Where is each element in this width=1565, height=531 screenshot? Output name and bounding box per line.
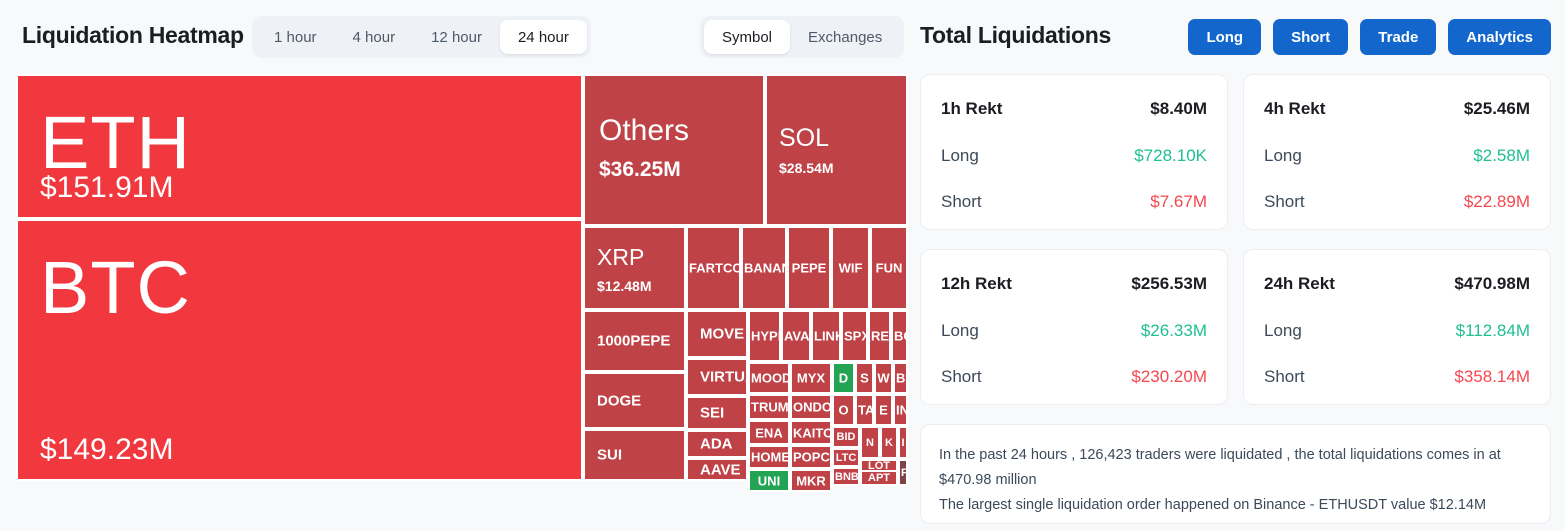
page-header: Liquidation Heatmap 1 hour 4 hour 12 hou… — [0, 0, 1565, 70]
treemap-cell-1000pepe[interactable]: 1000PEPE — [583, 310, 686, 372]
stat-long-label: Long — [941, 146, 979, 166]
treemap-cell-bch[interactable]: BCH — [891, 310, 908, 362]
treemap-cell-bananas31[interactable]: BANANAS31 — [741, 226, 787, 310]
treemap-cell-aave[interactable]: AAVE — [686, 458, 748, 481]
treemap-symbol: WIF — [833, 261, 868, 276]
liquidation-stats-grid: 1h Rekt $8.40M Long $728.10K Short $7.67… — [920, 74, 1551, 415]
treemap-cell-sei[interactable]: SEI — [686, 396, 748, 430]
stat-total-row: 12h Rekt $256.53M — [941, 274, 1207, 294]
treemap-cell-fartcoin[interactable]: FARTCOIN — [686, 226, 741, 310]
stat-long-value: $112.84M — [1456, 321, 1530, 341]
treemap-cell-link[interactable]: LINK — [811, 310, 841, 362]
treemap-cell-spx[interactable]: SPX — [841, 310, 868, 362]
treemap-cell-p[interactable]: P — [898, 459, 908, 486]
treemap-value: $151.91M — [40, 171, 173, 205]
treemap-cell-doge[interactable]: DOGE — [583, 372, 686, 429]
treemap-symbol: P — [900, 467, 906, 479]
stat-short-value: $22.89M — [1464, 192, 1530, 212]
summary-card: In the past 24 hours , 126,423 traders w… — [920, 424, 1551, 524]
stat-short-value: $230.20M — [1131, 367, 1207, 387]
stat-long-row: Long $112.84M — [1264, 321, 1530, 341]
stat-card-4h: 4h Rekt $25.46M Long $2.58M Short $22.89… — [1243, 74, 1551, 230]
treemap-symbol: BID — [834, 431, 858, 443]
treemap-cell-kaito[interactable]: KAITO — [790, 420, 832, 445]
timeframe-4-hour[interactable]: 4 hour — [335, 20, 414, 54]
treemap-cell-sui[interactable]: SUI — [583, 429, 686, 481]
treemap-value: $12.48M — [597, 278, 651, 294]
treemap-cell-others[interactable]: Others $36.25M — [583, 74, 765, 226]
treemap-cell-e[interactable]: E — [874, 394, 893, 426]
stat-long-label: Long — [1264, 321, 1302, 341]
treemap-symbol: W — [876, 371, 891, 386]
treemap-symbol: UNI — [750, 473, 788, 488]
stat-short-value: $358.14M — [1454, 367, 1530, 387]
treemap-cell-d[interactable]: D — [832, 362, 855, 394]
stat-title: 4h Rekt — [1264, 99, 1325, 119]
page-title: Liquidation Heatmap — [22, 22, 244, 49]
stat-short-label: Short — [941, 367, 982, 387]
stat-total: $25.46M — [1464, 99, 1530, 119]
treemap-cell-w[interactable]: W — [874, 362, 893, 394]
treemap-symbol: IN — [895, 403, 906, 418]
summary-line-2: The largest single liquidation order hap… — [939, 493, 1532, 518]
treemap-symbol: B — [895, 371, 906, 386]
treemap-symbol: N — [862, 437, 878, 449]
stat-total-row: 24h Rekt $470.98M — [1264, 274, 1530, 294]
treemap-symbol: FARTCOIN — [688, 261, 739, 276]
stat-short-row: Short $22.89M — [1264, 192, 1530, 212]
stat-long-label: Long — [1264, 146, 1302, 166]
treemap-symbol: HYPE — [750, 329, 779, 344]
liquidation-treemap: ETH $151.91M BTC $149.23M Others $36.25M… — [16, 74, 908, 481]
short-button[interactable]: Short — [1273, 19, 1348, 55]
treemap-symbol: SOL — [779, 124, 829, 153]
treemap-value: $149.23M — [40, 433, 173, 467]
treemap-symbol: VIRTUAL — [698, 369, 748, 386]
treemap-symbol: SUI — [595, 447, 624, 464]
treemap-cell-xrp[interactable]: XRP $12.48M — [583, 226, 686, 310]
treemap-symbol: S — [857, 371, 872, 386]
stat-total: $256.53M — [1131, 274, 1207, 294]
stat-short-label: Short — [1264, 192, 1305, 212]
action-button-group: Long Short Trade Analytics — [1188, 19, 1551, 55]
stat-card-1h: 1h Rekt $8.40M Long $728.10K Short $7.67… — [920, 74, 1228, 230]
stat-title: 24h Rekt — [1264, 274, 1335, 294]
treemap-cell-uni[interactable]: UNI — [748, 469, 790, 492]
treemap-cell-avax[interactable]: AVAX — [781, 310, 811, 362]
treemap-cell-in[interactable]: IN — [893, 394, 908, 426]
stat-total: $470.98M — [1454, 274, 1530, 294]
treemap-symbol: RENDER — [870, 329, 889, 344]
treemap-cell-myx[interactable]: MYX — [790, 362, 832, 394]
treemap-cell-virtual[interactable]: VIRTUAL — [686, 358, 748, 396]
treemap-symbol: PEPE — [789, 261, 829, 276]
treemap-cell-bid[interactable]: BID — [832, 426, 860, 448]
treemap-cell-fun[interactable]: FUN — [870, 226, 908, 310]
treemap-cell-b[interactable]: B — [893, 362, 908, 394]
treemap-cell-hype[interactable]: HYPE — [748, 310, 781, 362]
stat-short-label: Short — [941, 192, 982, 212]
treemap-symbol: MOODENG — [750, 371, 788, 386]
treemap-value: $28.54M — [779, 160, 833, 176]
treemap-symbol: BTC — [40, 245, 191, 330]
stat-long-value: $728.10K — [1134, 146, 1207, 166]
treemap-symbol: TRUMP — [750, 400, 788, 415]
treemap-cell-moodeng[interactable]: MOODENG — [748, 362, 790, 394]
timeframe-1-hour[interactable]: 1 hour — [256, 20, 335, 54]
stat-title: 12h Rekt — [941, 274, 1012, 294]
treemap-symbol: ONDO — [792, 400, 830, 415]
treemap-cell-ada[interactable]: ADA — [686, 430, 748, 458]
stat-short-label: Short — [1264, 367, 1305, 387]
treemap-cell-render[interactable]: RENDER — [868, 310, 891, 362]
stat-title: 1h Rekt — [941, 99, 1002, 119]
stat-total-row: 1h Rekt $8.40M — [941, 99, 1207, 119]
stat-long-row: Long $26.33M — [941, 321, 1207, 341]
treemap-symbol: ENA — [750, 425, 788, 440]
treemap-symbol: DOGE — [595, 392, 643, 409]
view-mode-segmented-control[interactable]: Symbol Exchanges — [700, 16, 904, 58]
treemap-symbol: AAVE — [698, 461, 743, 478]
treemap-value: $36.25M — [599, 158, 681, 182]
treemap-symbol: APT — [862, 472, 896, 484]
treemap-symbol: I — [900, 437, 906, 449]
stat-short-row: Short $358.14M — [1264, 367, 1530, 387]
mode-symbol[interactable]: Symbol — [704, 20, 790, 54]
treemap-cell-wif[interactable]: WIF — [831, 226, 870, 310]
treemap-symbol: BNB — [834, 471, 858, 483]
treemap-cell-popcat[interactable]: POPCAT — [790, 445, 832, 469]
treemap-cell-eth[interactable]: ETH $151.91M — [16, 74, 583, 219]
trade-button[interactable]: Trade — [1360, 19, 1436, 55]
treemap-symbol: HOME — [750, 450, 788, 465]
treemap-cell-s[interactable]: S — [855, 362, 874, 394]
analytics-button[interactable]: Analytics — [1448, 19, 1551, 55]
stat-long-label: Long — [941, 321, 979, 341]
stat-total: $8.40M — [1150, 99, 1207, 119]
treemap-cell-move[interactable]: MOVE — [686, 310, 748, 358]
stat-card-12h: 12h Rekt $256.53M Long $26.33M Short $23… — [920, 249, 1228, 405]
treemap-symbol: O — [834, 403, 853, 418]
stat-card-24h: 24h Rekt $470.98M Long $112.84M Short $3… — [1243, 249, 1551, 405]
treemap-cell-n[interactable]: N — [860, 426, 880, 459]
total-liquidations-title: Total Liquidations — [920, 22, 1111, 49]
treemap-symbol: SEI — [698, 405, 726, 422]
stat-short-row: Short $230.20M — [941, 367, 1207, 387]
treemap-symbol: ADA — [698, 436, 735, 453]
treemap-symbol: TA — [857, 403, 872, 418]
timeframe-12-hour[interactable]: 12 hour — [413, 20, 500, 54]
treemap-symbol: POPCAT — [792, 450, 830, 465]
stat-short-row: Short $7.67M — [941, 192, 1207, 212]
treemap-cell-trump[interactable]: TRUMP — [748, 394, 790, 420]
mode-exchanges[interactable]: Exchanges — [790, 20, 900, 54]
treemap-cell-i[interactable]: I — [898, 426, 908, 459]
stat-long-row: Long $2.58M — [1264, 146, 1530, 166]
treemap-symbol: MYX — [792, 371, 830, 386]
treemap-symbol: LINK — [813, 329, 839, 344]
treemap-cell-bnb[interactable]: BNB — [832, 467, 860, 486]
treemap-symbol: MOVE — [698, 326, 746, 343]
treemap-cell-ta[interactable]: TA — [855, 394, 874, 426]
treemap-symbol: Others — [599, 114, 689, 148]
treemap-cell-mkr[interactable]: MKR — [790, 469, 832, 492]
treemap-cell-apt[interactable]: APT — [860, 470, 898, 486]
stat-long-value: $26.33M — [1141, 321, 1207, 341]
treemap-symbol: E — [876, 403, 891, 418]
treemap-cell-btc[interactable]: BTC $149.23M — [16, 219, 583, 481]
treemap-symbol: K — [882, 437, 896, 449]
treemap-symbol: SPX — [843, 329, 866, 344]
treemap-symbol: 1000PEPE — [595, 333, 672, 350]
treemap-cell-pepe[interactable]: PEPE — [787, 226, 831, 310]
stat-long-value: $2.58M — [1473, 146, 1530, 166]
long-button[interactable]: Long — [1188, 19, 1261, 55]
treemap-cell-ondo[interactable]: ONDO — [790, 394, 832, 420]
timeframe-segmented-control[interactable]: 1 hour 4 hour 12 hour 24 hour — [252, 16, 591, 58]
treemap-cell-o[interactable]: O — [832, 394, 855, 426]
treemap-cell-ltc[interactable]: LTC — [832, 448, 860, 467]
treemap-cell-home[interactable]: HOME — [748, 445, 790, 469]
treemap-symbol: AVAX — [783, 329, 809, 344]
stat-long-row: Long $728.10K — [941, 146, 1207, 166]
stat-short-value: $7.67M — [1150, 192, 1207, 212]
stat-total-row: 4h Rekt $25.46M — [1264, 99, 1530, 119]
summary-line-1: In the past 24 hours , 126,423 traders w… — [939, 443, 1532, 493]
treemap-symbol: BCH — [893, 329, 906, 344]
treemap-symbol: LTC — [834, 452, 858, 464]
treemap-cell-sol[interactable]: SOL $28.54M — [765, 74, 908, 226]
timeframe-24-hour[interactable]: 24 hour — [500, 20, 587, 54]
treemap-cell-k[interactable]: K — [880, 426, 898, 459]
treemap-cell-ena[interactable]: ENA — [748, 420, 790, 445]
treemap-symbol: XRP — [597, 244, 644, 271]
treemap-symbol: FUN — [872, 261, 906, 276]
treemap-symbol: MKR — [792, 473, 830, 488]
treemap-symbol: BANANAS31 — [743, 261, 785, 276]
treemap-symbol: KAITO — [792, 425, 830, 440]
treemap-symbol: D — [834, 371, 853, 386]
